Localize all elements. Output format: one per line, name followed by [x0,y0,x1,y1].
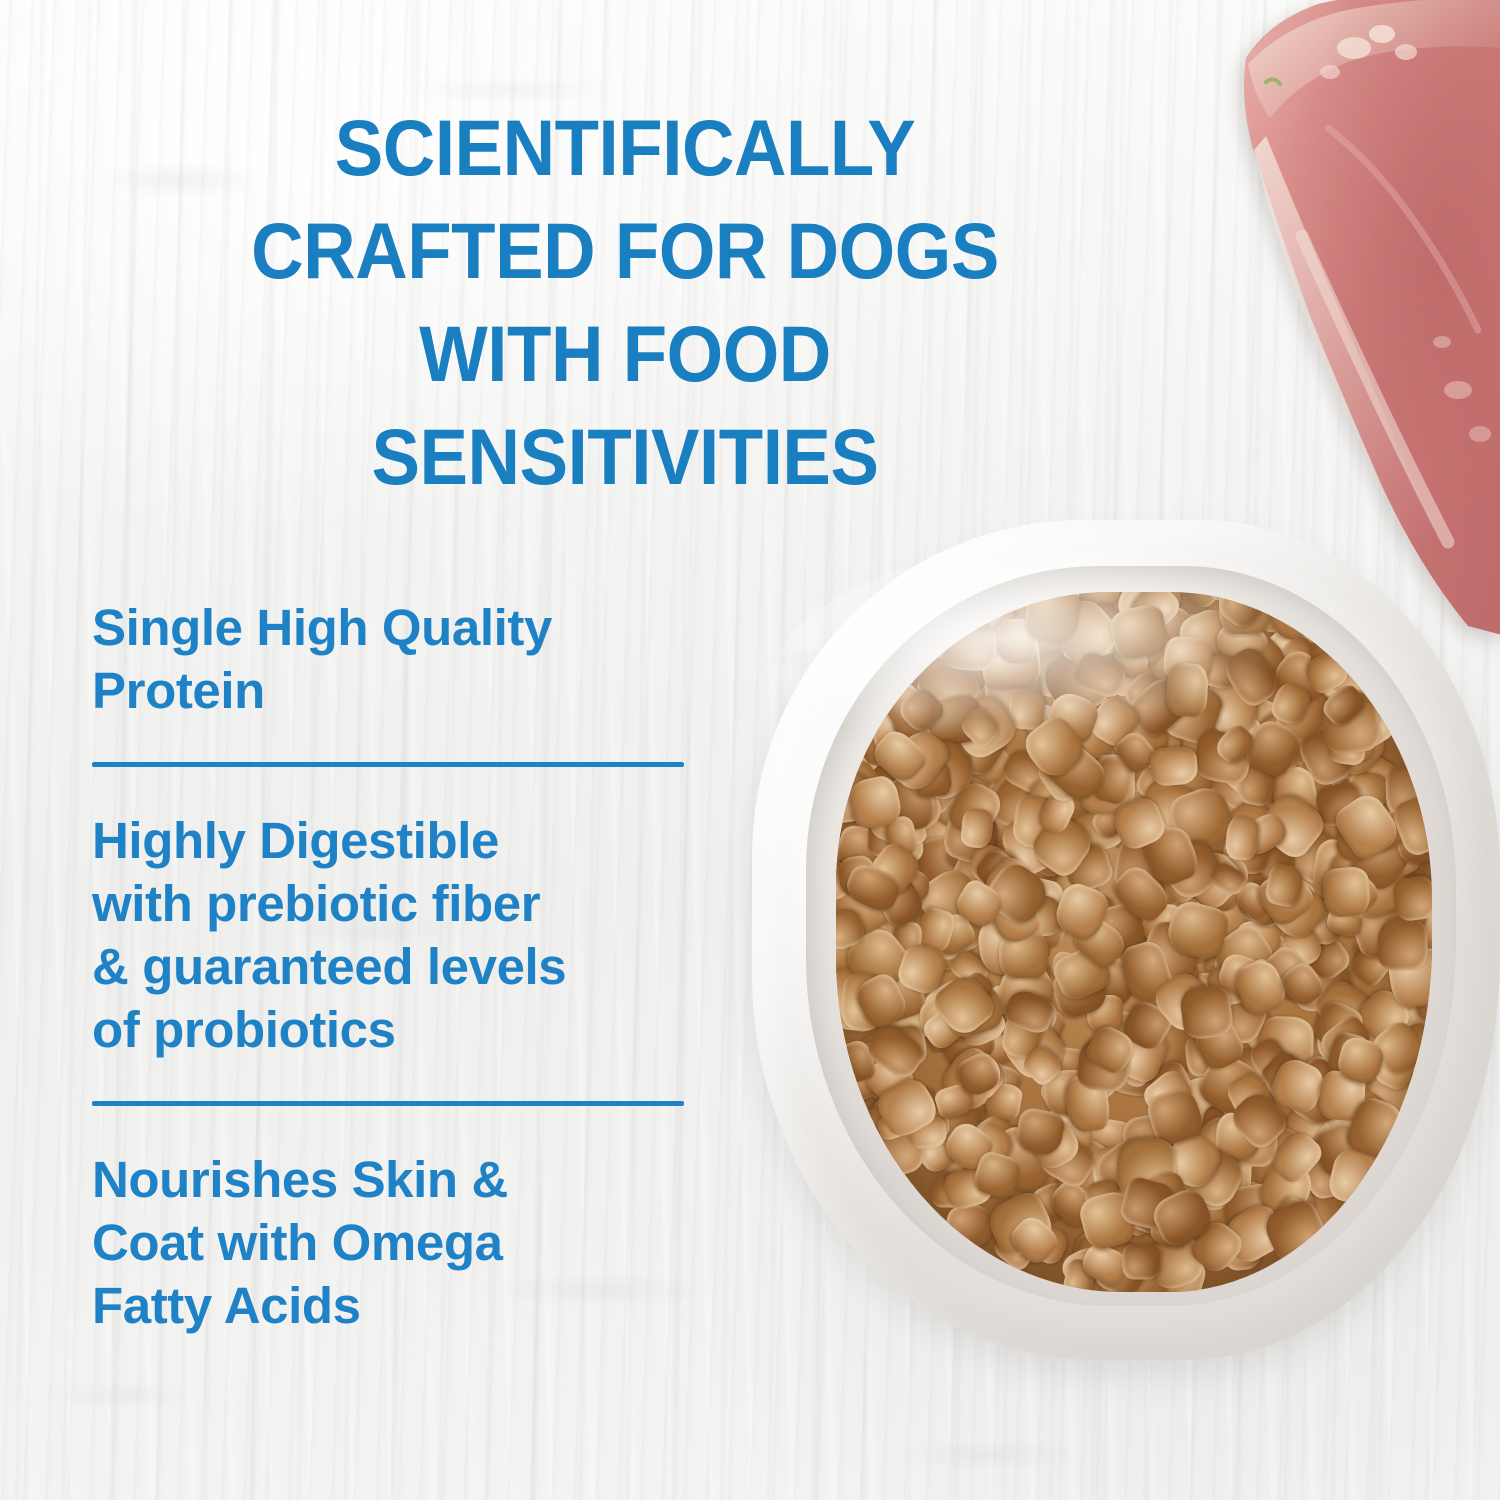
kibble-piece [944,1202,994,1250]
kibble-piece [1165,662,1209,717]
benefit-item-protein: Single High Quality Protein [92,596,692,722]
kibble-piece [1378,917,1429,971]
page-title: SCIENTIFICALLY CRAFTED FOR DOGS WITH FOO… [105,96,1145,508]
spacer [92,1061,692,1101]
kibble-pile [836,592,1432,1292]
spacer [92,767,692,809]
kibble-piece [1122,1244,1160,1280]
kibble-piece [1178,983,1234,1041]
spacer [92,1106,692,1148]
kibble-piece [1322,865,1372,918]
spacer [92,722,692,762]
product-feature-graphic: SCIENTIFICALLY CRAFTED FOR DOGS WITH FOO… [0,0,1500,1500]
benefit-item-digestible: Highly Digestible with prebiotic fiber &… [92,809,692,1061]
benefit-item-skin-coat: Nourishes Skin & Coat with Omega Fatty A… [92,1148,692,1337]
kibble-piece [1224,814,1260,861]
kibble-piece [1150,746,1199,787]
kibble-piece [943,618,999,671]
benefit-list: Single High Quality Protein Highly Diges… [92,596,692,1337]
